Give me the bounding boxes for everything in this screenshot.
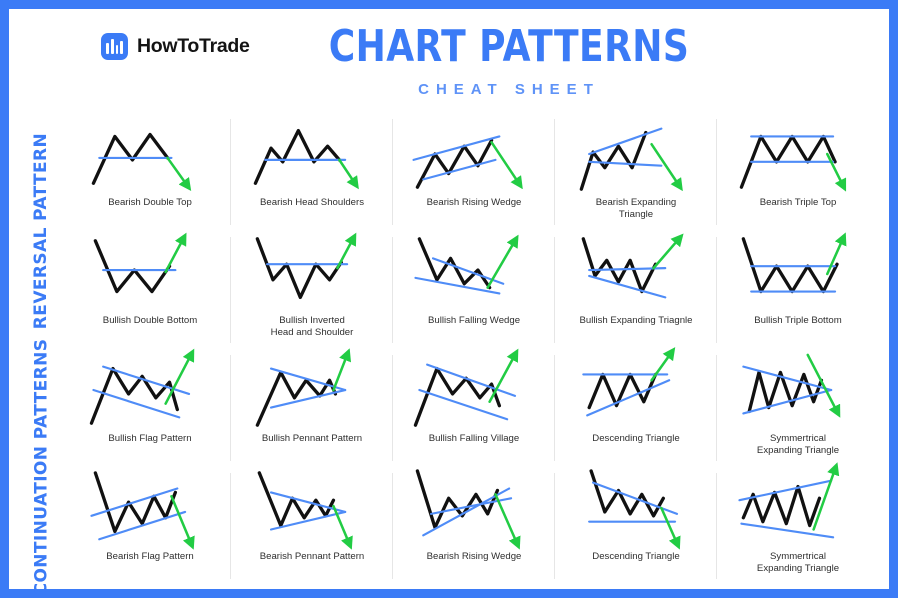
pattern-cell-symmetrical-contracting-triangle-down: Symmertrical Expanding Triangle: [717, 349, 879, 467]
pattern-cell-bullish-expanding-triangle: Bullish Expanding Triagnle: [555, 231, 717, 349]
pattern-cell-bullish-falling-village: Bullish Falling Village: [393, 349, 555, 467]
section-label-reversal-text: REVERSAL PATTERN: [31, 133, 51, 329]
pattern-cell-bullish-inverted-head-and-shoulder: Bullish Inverted Head and Shoulder: [231, 231, 393, 349]
pattern-chart-bearish-rising-wedge-cont: [397, 469, 551, 549]
pattern-chart-descending-triangle-down: [559, 469, 713, 549]
pattern-label: Bearish Triple Top: [760, 197, 837, 209]
pattern-label: Bearish Rising Wedge: [427, 197, 522, 209]
pattern-chart-bearish-double-top: [73, 115, 227, 195]
pattern-label: Bullish Double Bottom: [103, 315, 197, 327]
pattern-chart-ascending-triangle-up: [559, 351, 713, 431]
pattern-label: Bearish Pennant Pattern: [260, 551, 365, 563]
pattern-label: Bearish Flag Pattern: [106, 551, 193, 563]
pattern-cell-bearish-head-shoulders: Bearish Head Shoulders: [231, 113, 393, 231]
pattern-label: Bearish Double Top: [108, 197, 192, 209]
pattern-cell-bearish-rising-wedge: Bearish Rising Wedge: [393, 113, 555, 231]
pattern-chart-bearish-rising-wedge: [397, 115, 551, 195]
pattern-cell-symmetrical-expanding-triangle-up: Symmertrical Expanding Triangle: [717, 467, 879, 585]
pattern-chart-bullish-double-bottom: [73, 233, 227, 313]
pattern-chart-bullish-pennant-pattern: [235, 351, 389, 431]
pattern-label: Bullish Flag Pattern: [108, 433, 191, 445]
pattern-cell-bullish-triple-bottom: Bullish Triple Bottom: [717, 231, 879, 349]
pattern-cell-bullish-double-bottom: Bullish Double Bottom: [69, 231, 231, 349]
pattern-chart-bearish-head-shoulders: [235, 115, 389, 195]
title-block: CHART PATTERNS CHEAT SHEET: [9, 25, 889, 98]
pattern-cell-bullish-pennant-pattern: Bullish Pennant Pattern: [231, 349, 393, 467]
pattern-label: Bullish Falling Wedge: [428, 315, 520, 327]
pattern-cell-bearish-flag-pattern: Bearish Flag Pattern: [69, 467, 231, 585]
pattern-cell-bearish-double-top: Bearish Double Top: [69, 113, 231, 231]
pattern-cell-bearish-pennant-pattern: Bearish Pennant Pattern: [231, 467, 393, 585]
pattern-chart-bullish-flag-pattern: [73, 351, 227, 431]
pattern-chart-symmetrical-contracting-triangle-down: [721, 351, 875, 431]
pattern-cell-bearish-triple-top: Bearish Triple Top: [717, 113, 879, 231]
pattern-cell-ascending-triangle-up: Descending Triangle: [555, 349, 717, 467]
pattern-chart-bullish-triple-bottom: [721, 233, 875, 313]
pattern-grid: Bearish Double TopBearish Head Shoulders…: [69, 113, 879, 585]
pattern-chart-bullish-expanding-triangle: [559, 233, 713, 313]
pattern-chart-bearish-pennant-pattern: [235, 469, 389, 549]
cheat-sheet-page: HowToTrade CHART PATTERNS CHEAT SHEET RE…: [0, 0, 898, 598]
pattern-cell-bearish-expanding-triangle: Bearish Expanding Triangle: [555, 113, 717, 231]
pattern-chart-bearish-triple-top: [721, 115, 875, 195]
pattern-label: Bullish Inverted Head and Shoulder: [271, 315, 354, 338]
section-label-continuation-text: CONTINUATION PATTERNS: [31, 339, 51, 596]
pattern-label: Symmertrical Expanding Triangle: [757, 551, 839, 574]
page-subtitle: CHEAT SHEET: [129, 81, 889, 98]
pattern-chart-bullish-inverted-head-and-shoulder: [235, 233, 389, 313]
section-label-continuation: CONTINUATION PATTERNS: [21, 349, 61, 585]
pattern-label: Descending Triangle: [592, 551, 679, 563]
pattern-label: Bearish Head Shoulders: [260, 197, 364, 209]
pattern-label: Bullish Falling Village: [429, 433, 519, 445]
pattern-label: Bullish Pennant Pattern: [262, 433, 362, 445]
pattern-chart-bearish-flag-pattern: [73, 469, 227, 549]
pattern-cell-descending-triangle-down: Descending Triangle: [555, 467, 717, 585]
pattern-label: Bearish Expanding Triangle: [596, 197, 677, 220]
pattern-label: Bullish Expanding Triagnle: [579, 315, 692, 327]
pattern-label: Descending Triangle: [592, 433, 679, 445]
pattern-cell-bullish-flag-pattern: Bullish Flag Pattern: [69, 349, 231, 467]
page-title: CHART PATTERNS: [197, 25, 820, 69]
pattern-label: Bearish Rising Wedge: [427, 551, 522, 563]
pattern-label: Bullish Triple Bottom: [754, 315, 841, 327]
pattern-chart-bullish-falling-wedge: [397, 233, 551, 313]
pattern-cell-bullish-falling-wedge: Bullish Falling Wedge: [393, 231, 555, 349]
pattern-cell-bearish-rising-wedge-cont: Bearish Rising Wedge: [393, 467, 555, 585]
pattern-label: Symmertrical Expanding Triangle: [757, 433, 839, 456]
pattern-chart-bearish-expanding-triangle: [559, 115, 713, 195]
section-label-reversal: REVERSAL PATTERN: [21, 117, 61, 345]
pattern-chart-bullish-falling-village: [397, 351, 551, 431]
page-header: HowToTrade CHART PATTERNS CHEAT SHEET: [9, 9, 889, 111]
pattern-chart-symmetrical-expanding-triangle-up: [721, 469, 875, 549]
